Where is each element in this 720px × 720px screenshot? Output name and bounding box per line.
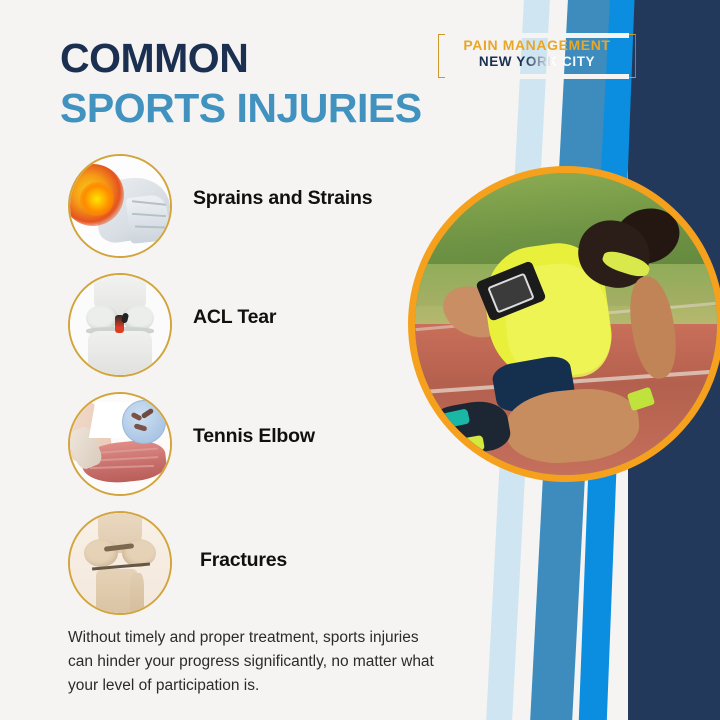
list-item[interactable]: ACL Tear bbox=[68, 273, 448, 392]
ankle-sprain-inflammation-icon bbox=[68, 154, 172, 258]
brand-badge: PAIN MANAGEMENT NEW YORK CITY bbox=[438, 34, 636, 78]
elbow-tendon-magnified-icon bbox=[68, 392, 172, 496]
list-item-label: Sprains and Strains bbox=[193, 187, 372, 210]
title-line-2: SPORTS INJURIES bbox=[60, 86, 422, 130]
infographic-canvas: COMMON SPORTS INJURIES PAIN MANAGEMENT N… bbox=[0, 0, 720, 720]
runner-photo bbox=[415, 173, 717, 475]
list-item[interactable]: Tennis Elbow bbox=[68, 392, 448, 511]
badge-line-1: PAIN MANAGEMENT bbox=[438, 37, 636, 53]
knee-bone-fracture-icon bbox=[68, 511, 172, 615]
list-item[interactable]: Sprains and Strains bbox=[68, 154, 448, 273]
list-item-label: Tennis Elbow bbox=[193, 425, 315, 448]
list-item[interactable]: Fractures bbox=[68, 511, 448, 630]
injury-list: Sprains and Strains ACL Tear bbox=[68, 154, 448, 630]
badge-line-2: NEW YORK CITY bbox=[438, 54, 636, 69]
hero-photo-circle bbox=[408, 166, 720, 482]
list-item-label: Fractures bbox=[200, 549, 287, 572]
page-title: COMMON SPORTS INJURIES bbox=[60, 36, 422, 131]
list-item-label: ACL Tear bbox=[193, 306, 276, 329]
title-line-1: COMMON bbox=[60, 36, 422, 80]
footnote-text: Without timely and proper treatment, spo… bbox=[68, 626, 446, 698]
knee-acl-tear-icon bbox=[68, 273, 172, 377]
